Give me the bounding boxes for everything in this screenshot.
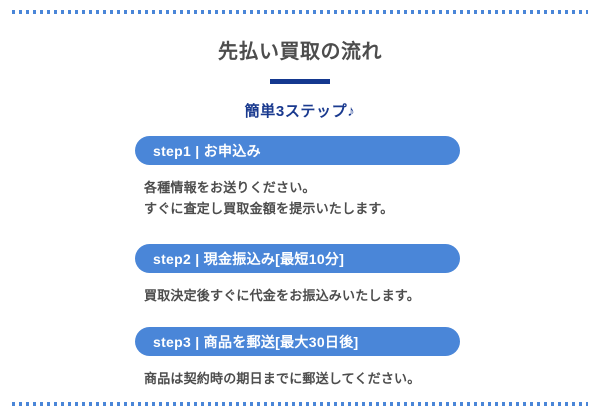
bottom-dotted-divider (12, 402, 588, 406)
step-body-1: 各種情報をお送りください。 すぐに査定し買取金額を提示いたします。 (144, 177, 460, 219)
step-body-2: 買取決定後すぐに代金をお振込みいたします。 (144, 285, 460, 306)
step-body-line: 商品は契約時の期日までに郵送してください。 (144, 368, 460, 389)
step-pill-label-3: step3 | 商品を郵送[最大30日後] (153, 332, 358, 352)
step-block-3: step3 | 商品を郵送[最大30日後] 商品は契約時の期日までに郵送してくだ… (135, 327, 460, 389)
step-body-line: すぐに査定し買取金額を提示いたします。 (144, 198, 460, 219)
step-pill-2[interactable]: step2 | 現金振込み[最短10分] (135, 244, 460, 273)
step-pill-label-1: step1 | お申込み (153, 141, 261, 161)
page-subtitle: 簡単3ステップ♪ (0, 101, 600, 123)
step-pill-3[interactable]: step3 | 商品を郵送[最大30日後] (135, 327, 460, 356)
steps-list: step1 | お申込み 各種情報をお送りください。 すぐに査定し買取金額を提示… (135, 136, 460, 389)
step-pill-label-2: step2 | 現金振込み[最短10分] (153, 249, 344, 269)
step-body-3: 商品は契約時の期日までに郵送してください。 (144, 368, 460, 389)
title-underline-bar (270, 79, 330, 84)
step-block-2: step2 | 現金振込み[最短10分] 買取決定後すぐに代金をお振込みいたしま… (135, 244, 460, 306)
step-body-line: 各種情報をお送りください。 (144, 177, 460, 198)
step-block-1: step1 | お申込み 各種情報をお送りください。 すぐに査定し買取金額を提示… (135, 136, 460, 219)
page-title: 先払い買取の流れ (0, 39, 600, 65)
step-body-line: 買取決定後すぐに代金をお振込みいたします。 (144, 285, 460, 306)
flow-section: 先払い買取の流れ 簡単3ステップ♪ step1 | お申込み 各種情報をお送りく… (0, 0, 600, 414)
spacer (135, 306, 460, 327)
spacer (135, 219, 460, 244)
step-pill-1[interactable]: step1 | お申込み (135, 136, 460, 165)
top-dotted-divider (12, 10, 588, 14)
